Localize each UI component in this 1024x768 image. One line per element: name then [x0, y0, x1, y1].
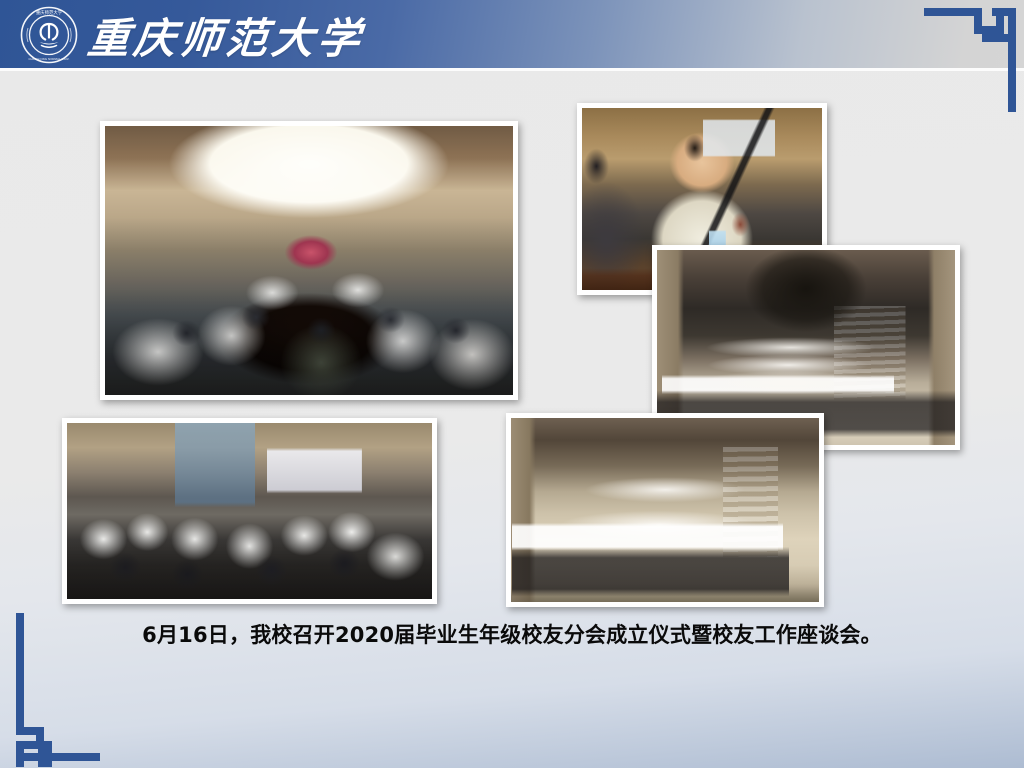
- svg-text:CHONGQING NORMAL UNIV.: CHONGQING NORMAL UNIV.: [28, 57, 69, 61]
- header-divider: [0, 68, 1024, 71]
- photo-conference-room-wide-image: [105, 126, 513, 395]
- photo-seminar-room: [62, 418, 437, 604]
- university-wordmark: 重庆师范大学: [85, 8, 367, 62]
- photo-conference-room-wide: [100, 121, 518, 400]
- svg-text:重庆师范大学: 重庆师范大学: [36, 9, 63, 16]
- photo-heart-sign-students-image: [511, 418, 819, 602]
- photo-seminar-room-image: [67, 423, 432, 599]
- university-seal-icon: 重庆师范大学 CHONGQING NORMAL UNIV.: [20, 6, 78, 64]
- slide-canvas: 重庆师范大学 CHONGQING NORMAL UNIV. 重庆师范大学: [0, 0, 1024, 768]
- photo-heart-sign-students: [506, 413, 824, 607]
- slide-caption: 6月16日，我校召开2020届毕业生年级校友分会成立仪式暨校友工作座谈会。: [0, 619, 1024, 649]
- corner-ornament-top-right: [920, 0, 1024, 112]
